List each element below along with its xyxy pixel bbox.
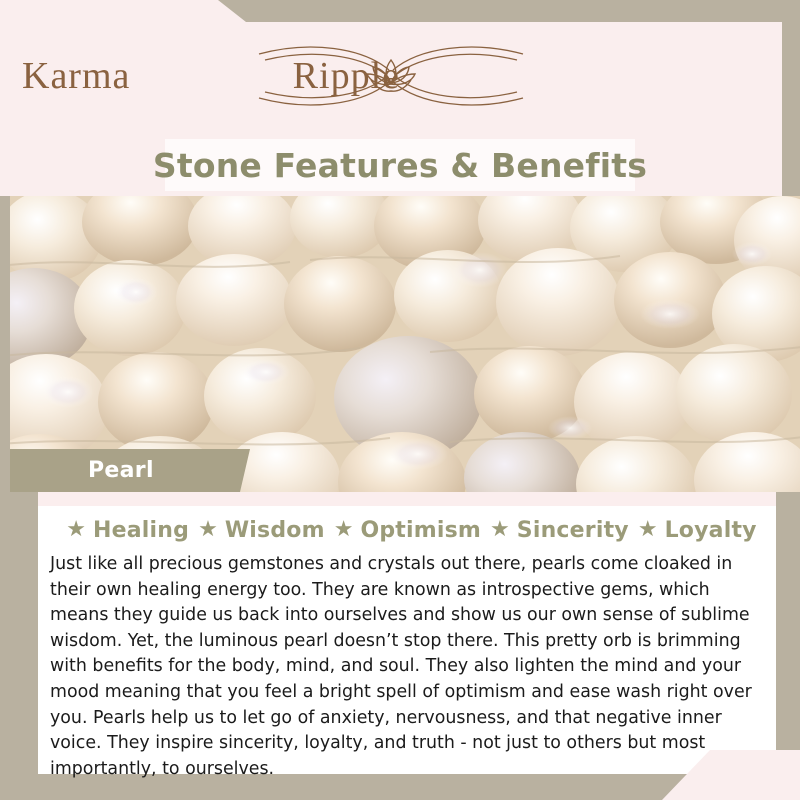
benefits-row: ★ Healing ★ Wisdom ★ Optimism ★ Sincerit… — [38, 510, 776, 550]
infographic-page: Karma Ripple Stone Features & Benefits — [0, 0, 800, 800]
benefit-item: ★ Optimism — [325, 518, 481, 543]
stone-description: Just like all precious gemstones and cry… — [38, 550, 776, 782]
pearl-pile-image — [10, 196, 800, 492]
brand-name-right: Ripple — [293, 54, 400, 98]
stone-photo — [10, 196, 800, 492]
star-icon: ★ — [490, 519, 510, 541]
brand-logo: Karma Ripple — [0, 36, 782, 116]
benefit-label: Sincerity — [517, 518, 629, 543]
benefit-label: Loyalty — [665, 518, 757, 543]
stone-name-band: Pearl — [10, 449, 250, 492]
benefit-item: ★ Loyalty — [629, 518, 757, 543]
page-title: Stone Features & Benefits — [153, 146, 647, 185]
benefit-item: ★ Wisdom — [189, 518, 325, 543]
benefit-item: ★ Sincerity — [481, 518, 629, 543]
star-icon: ★ — [198, 519, 218, 541]
star-icon: ★ — [638, 519, 658, 541]
benefit-label: Optimism — [360, 518, 481, 543]
star-icon: ★ — [334, 519, 354, 541]
brand-name-left: Karma — [22, 54, 130, 98]
content-panel: ★ Healing ★ Wisdom ★ Optimism ★ Sincerit… — [38, 506, 776, 774]
benefit-label: Wisdom — [225, 518, 325, 543]
page-title-plaque: Stone Features & Benefits — [165, 139, 635, 191]
divider-strip — [38, 492, 776, 506]
stone-name: Pearl — [88, 458, 154, 483]
benefit-label: Healing — [93, 518, 189, 543]
benefit-item: ★ Healing — [57, 518, 189, 543]
star-icon: ★ — [66, 519, 86, 541]
